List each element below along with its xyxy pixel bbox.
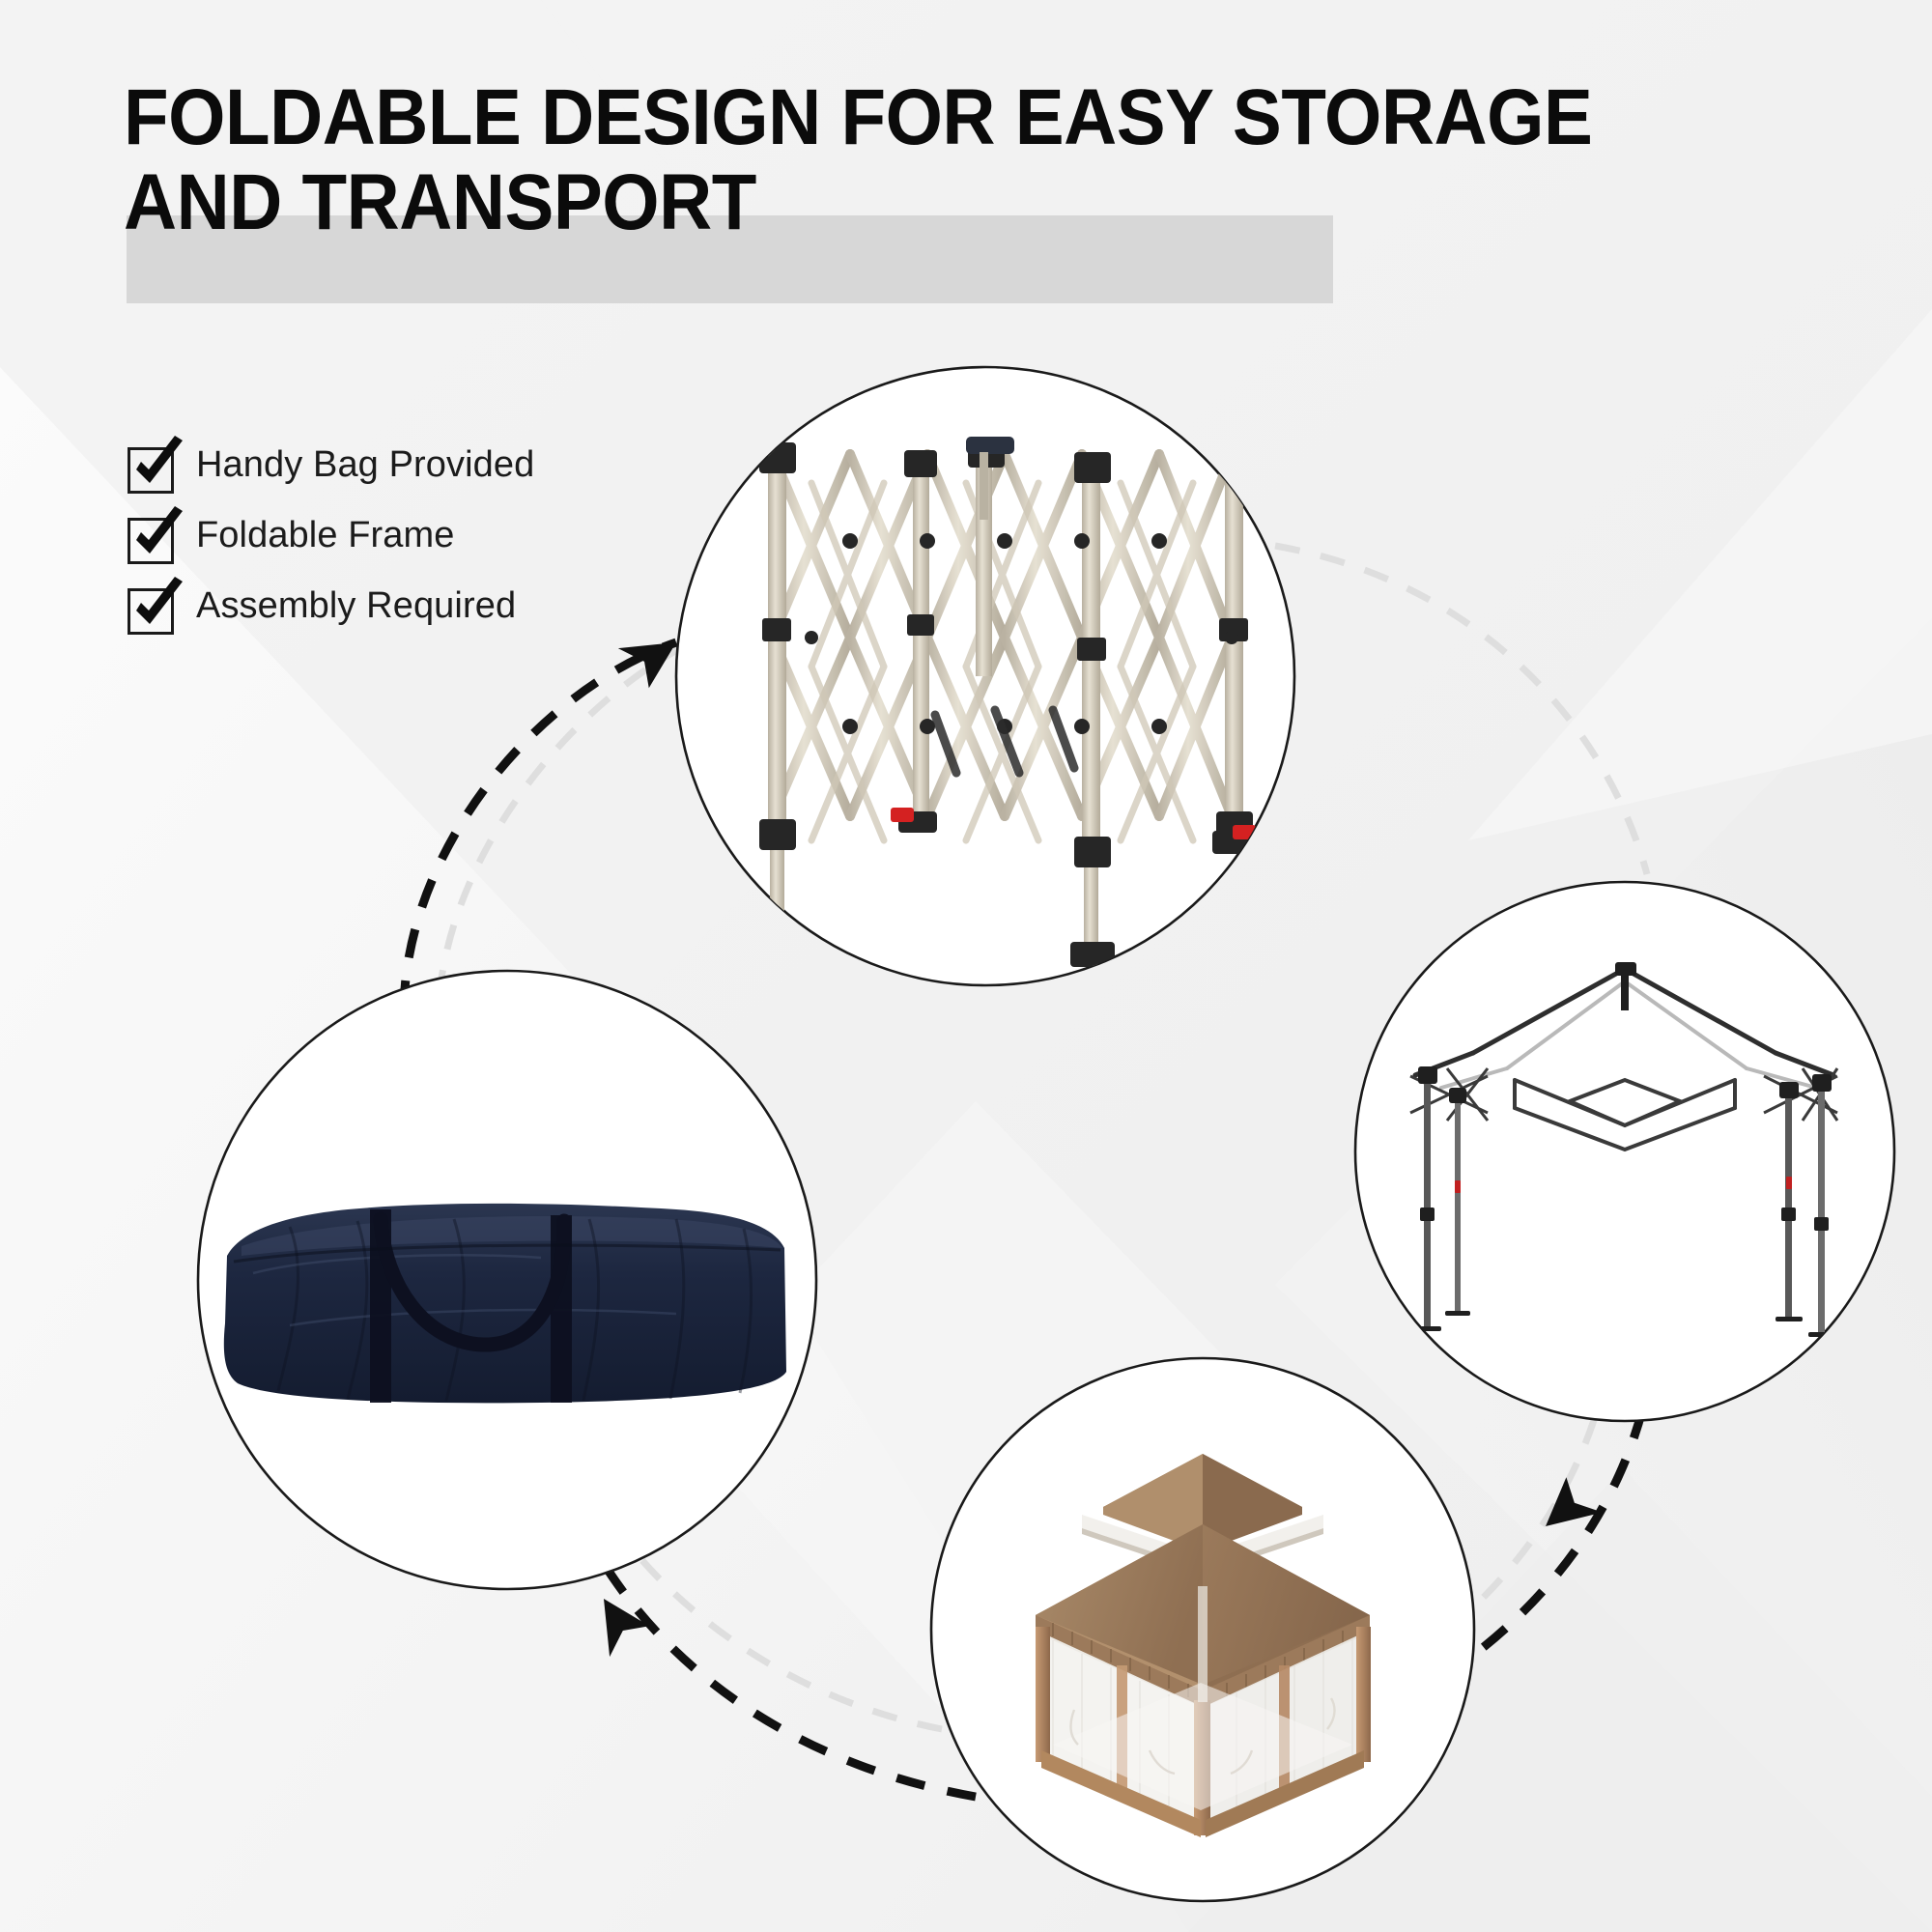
- product-photo-circles: [0, 0, 1932, 1932]
- folded-frame-circle: [676, 367, 1294, 985]
- navy-storage-bag-photo: [224, 1204, 786, 1403]
- gazebo-circle: [931, 1358, 1474, 1901]
- carry-bag-circle: [198, 971, 816, 1589]
- open-frame-circle: [1355, 882, 1894, 1421]
